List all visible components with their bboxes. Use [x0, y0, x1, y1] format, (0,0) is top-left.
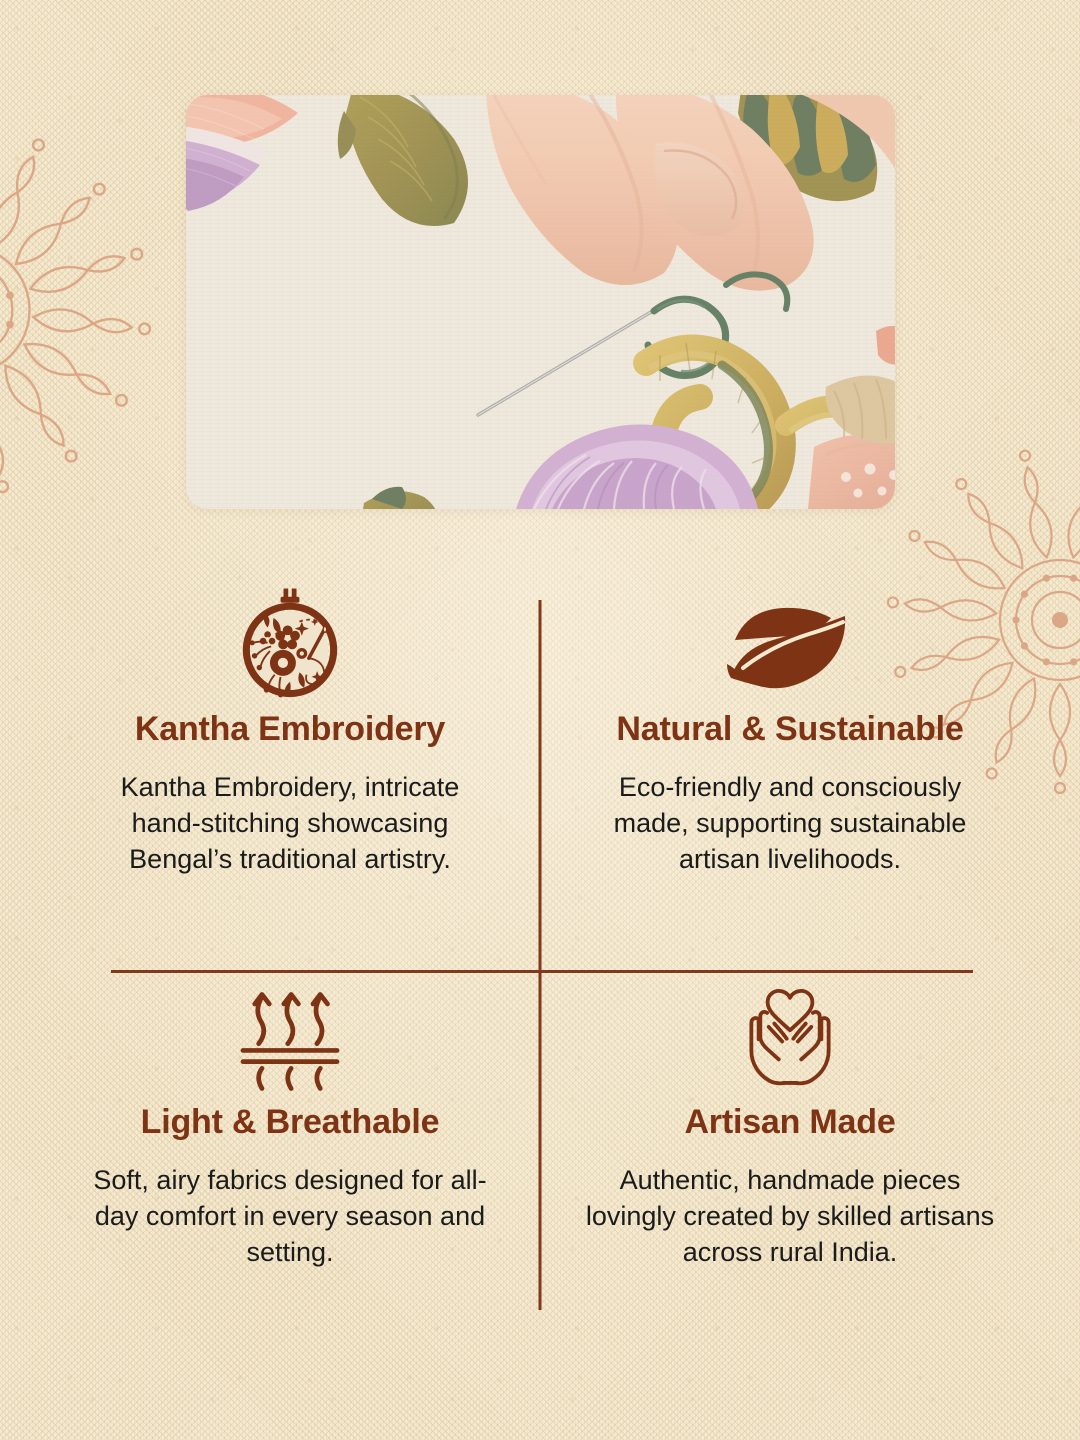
feature-card-kantha-embroidery: Kantha Embroidery Kantha Embroidery, int… — [55, 585, 525, 878]
grid-divider-horizontal — [111, 970, 973, 973]
feature-description: Soft, airy fabrics designed for all-day … — [80, 1163, 500, 1271]
hero-image — [186, 95, 895, 509]
embroidery-photo — [186, 95, 895, 509]
feature-title: Light & Breathable — [141, 1104, 440, 1141]
breathable-fabric-icon — [234, 978, 346, 1096]
feature-card-light-breathable: Light & Breathable Soft, airy fabrics de… — [55, 978, 525, 1271]
hands-heart-icon — [734, 978, 846, 1096]
feature-title: Artisan Made — [684, 1104, 895, 1141]
leaf-icon — [725, 585, 855, 703]
grid-divider-vertical — [539, 600, 542, 1310]
feature-card-artisan-made: Artisan Made Authentic, handmade pieces … — [555, 978, 1025, 1271]
feature-card-natural-sustainable: Natural & Sustainable Eco-friendly and c… — [555, 585, 1025, 878]
feature-title: Kantha Embroidery — [135, 711, 445, 748]
mandala-ornament-left — [0, 95, 180, 525]
feature-title: Natural & Sustainable — [616, 711, 963, 748]
feature-description: Kantha Embroidery, intricate hand-stitch… — [90, 770, 490, 878]
feature-grid: Kantha Embroidery Kantha Embroidery, int… — [0, 580, 1080, 1340]
embroidery-hoop-icon — [231, 585, 349, 703]
feature-description: Authentic, handmade pieces lovingly crea… — [580, 1163, 1000, 1271]
feature-description: Eco-friendly and consciously made, suppo… — [590, 770, 990, 878]
